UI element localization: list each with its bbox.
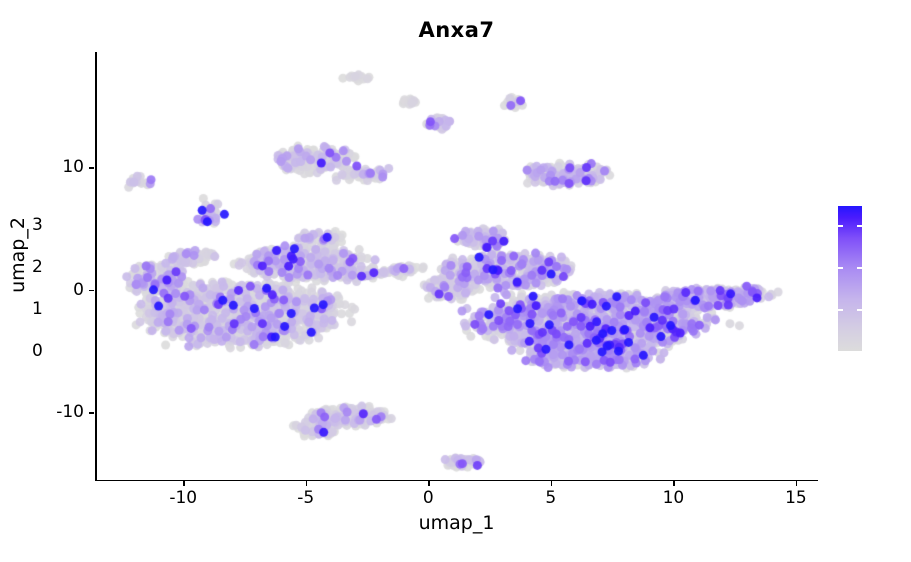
x-axis-label: umap_1: [95, 512, 818, 534]
y-axis-label: umap_2: [7, 175, 29, 335]
x-tick-mark: [183, 481, 184, 486]
x-tick-label: 5: [545, 488, 556, 508]
colorbar-tick-mark: [838, 309, 843, 311]
colorbar-tick-mark: [838, 225, 843, 227]
y-tick-mark: [89, 412, 94, 413]
colorbar-tick-mark: [857, 267, 862, 269]
x-tick-mark: [306, 481, 307, 486]
colorbar-tick-label: 0: [32, 341, 43, 361]
page-title: Anxa7: [95, 18, 818, 42]
colorbar-tick-label: 2: [32, 257, 43, 277]
y-tick-label: 0: [73, 280, 84, 300]
x-tick-mark: [551, 481, 552, 486]
x-tick-label: 10: [663, 488, 685, 508]
x-tick-label: 15: [785, 488, 807, 508]
colorbar-tick-mark: [838, 267, 843, 269]
colorbar-gradient: [838, 206, 862, 351]
figure-canvas: Anxa7 -10-5051015 100-10 umap_1 umap_2 0…: [0, 0, 911, 562]
y-tick-label: -10: [56, 402, 84, 422]
x-tick-mark: [428, 481, 429, 486]
x-tick-label: -10: [169, 488, 197, 508]
x-tick-label: -5: [297, 488, 314, 508]
x-axis-spine: [95, 480, 818, 482]
colorbar-tick-mark: [857, 309, 862, 311]
y-tick-mark: [89, 167, 94, 168]
x-tick-mark: [796, 481, 797, 486]
colorbar-tick-mark: [857, 225, 862, 227]
y-axis-spine: [95, 52, 97, 481]
plot-axes: [95, 52, 818, 481]
colorbar: [838, 206, 862, 351]
x-tick-mark: [673, 481, 674, 486]
y-tick-label: 10: [62, 157, 84, 177]
colorbar-tick-label: 3: [32, 215, 43, 235]
y-tick-mark: [89, 290, 94, 291]
x-tick-label: 0: [423, 488, 434, 508]
colorbar-tick-label: 1: [32, 299, 43, 319]
scatter-plot: [95, 52, 818, 481]
